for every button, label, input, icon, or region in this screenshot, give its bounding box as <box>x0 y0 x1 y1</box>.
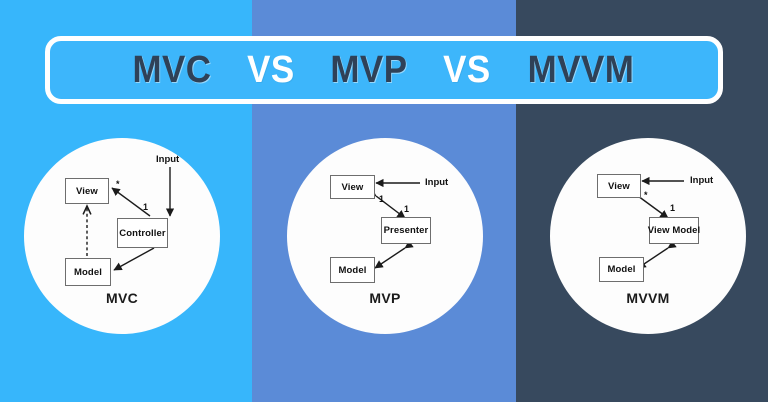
diagram-circle-mvc: View Controller Model Input * 1 MVC <box>24 138 220 334</box>
mvp-one-label-a: 1 <box>379 194 384 204</box>
title-word-mvp: MVP <box>330 51 407 89</box>
title-banner: MVC VS MVP VS MVVM <box>45 36 723 104</box>
title-word-mvvm: MVVM <box>527 51 634 89</box>
mvvm-one-label: 1 <box>670 203 675 213</box>
mvc-star-label: * <box>116 179 120 189</box>
mvp-view-box: View <box>330 175 375 199</box>
mvp-model-box: Model <box>330 257 375 283</box>
mvvm-caption: MVVM <box>550 290 746 306</box>
mvvm-view-model-box: View Model <box>649 217 699 244</box>
diagram-circle-mvp: View Presenter Model Input 1 1 MVP <box>287 138 483 334</box>
diagram-circle-mvvm: View View Model Model Input * 1 MVVM <box>550 138 746 334</box>
mvc-caption: MVC <box>24 290 220 306</box>
mvc-view-box: View <box>65 178 109 204</box>
mvc-controller-box: Controller <box>117 218 168 248</box>
mvc-input-label: Input <box>156 154 179 165</box>
mvc-one-label: 1 <box>143 202 148 212</box>
mvp-presenter-box: Presenter <box>381 217 431 244</box>
mvp-input-label: Input <box>425 177 448 188</box>
title-word-mvc: MVC <box>133 51 212 89</box>
mvvm-view-box: View <box>597 174 641 198</box>
mvvm-model-box: Model <box>599 257 644 282</box>
mvp-one-label-b: 1 <box>404 204 409 214</box>
mvc-model-box: Model <box>65 258 111 286</box>
mvp-caption: MVP <box>287 290 483 306</box>
title-word-vs-2: VS <box>443 51 491 89</box>
mvvm-star-label: * <box>644 190 648 200</box>
mvc-vs-mvp-vs-mvvm-infographic: MVC VS MVP VS MVVM <box>0 0 768 402</box>
mvvm-input-label: Input <box>690 175 713 186</box>
title-word-vs-1: VS <box>247 51 295 89</box>
